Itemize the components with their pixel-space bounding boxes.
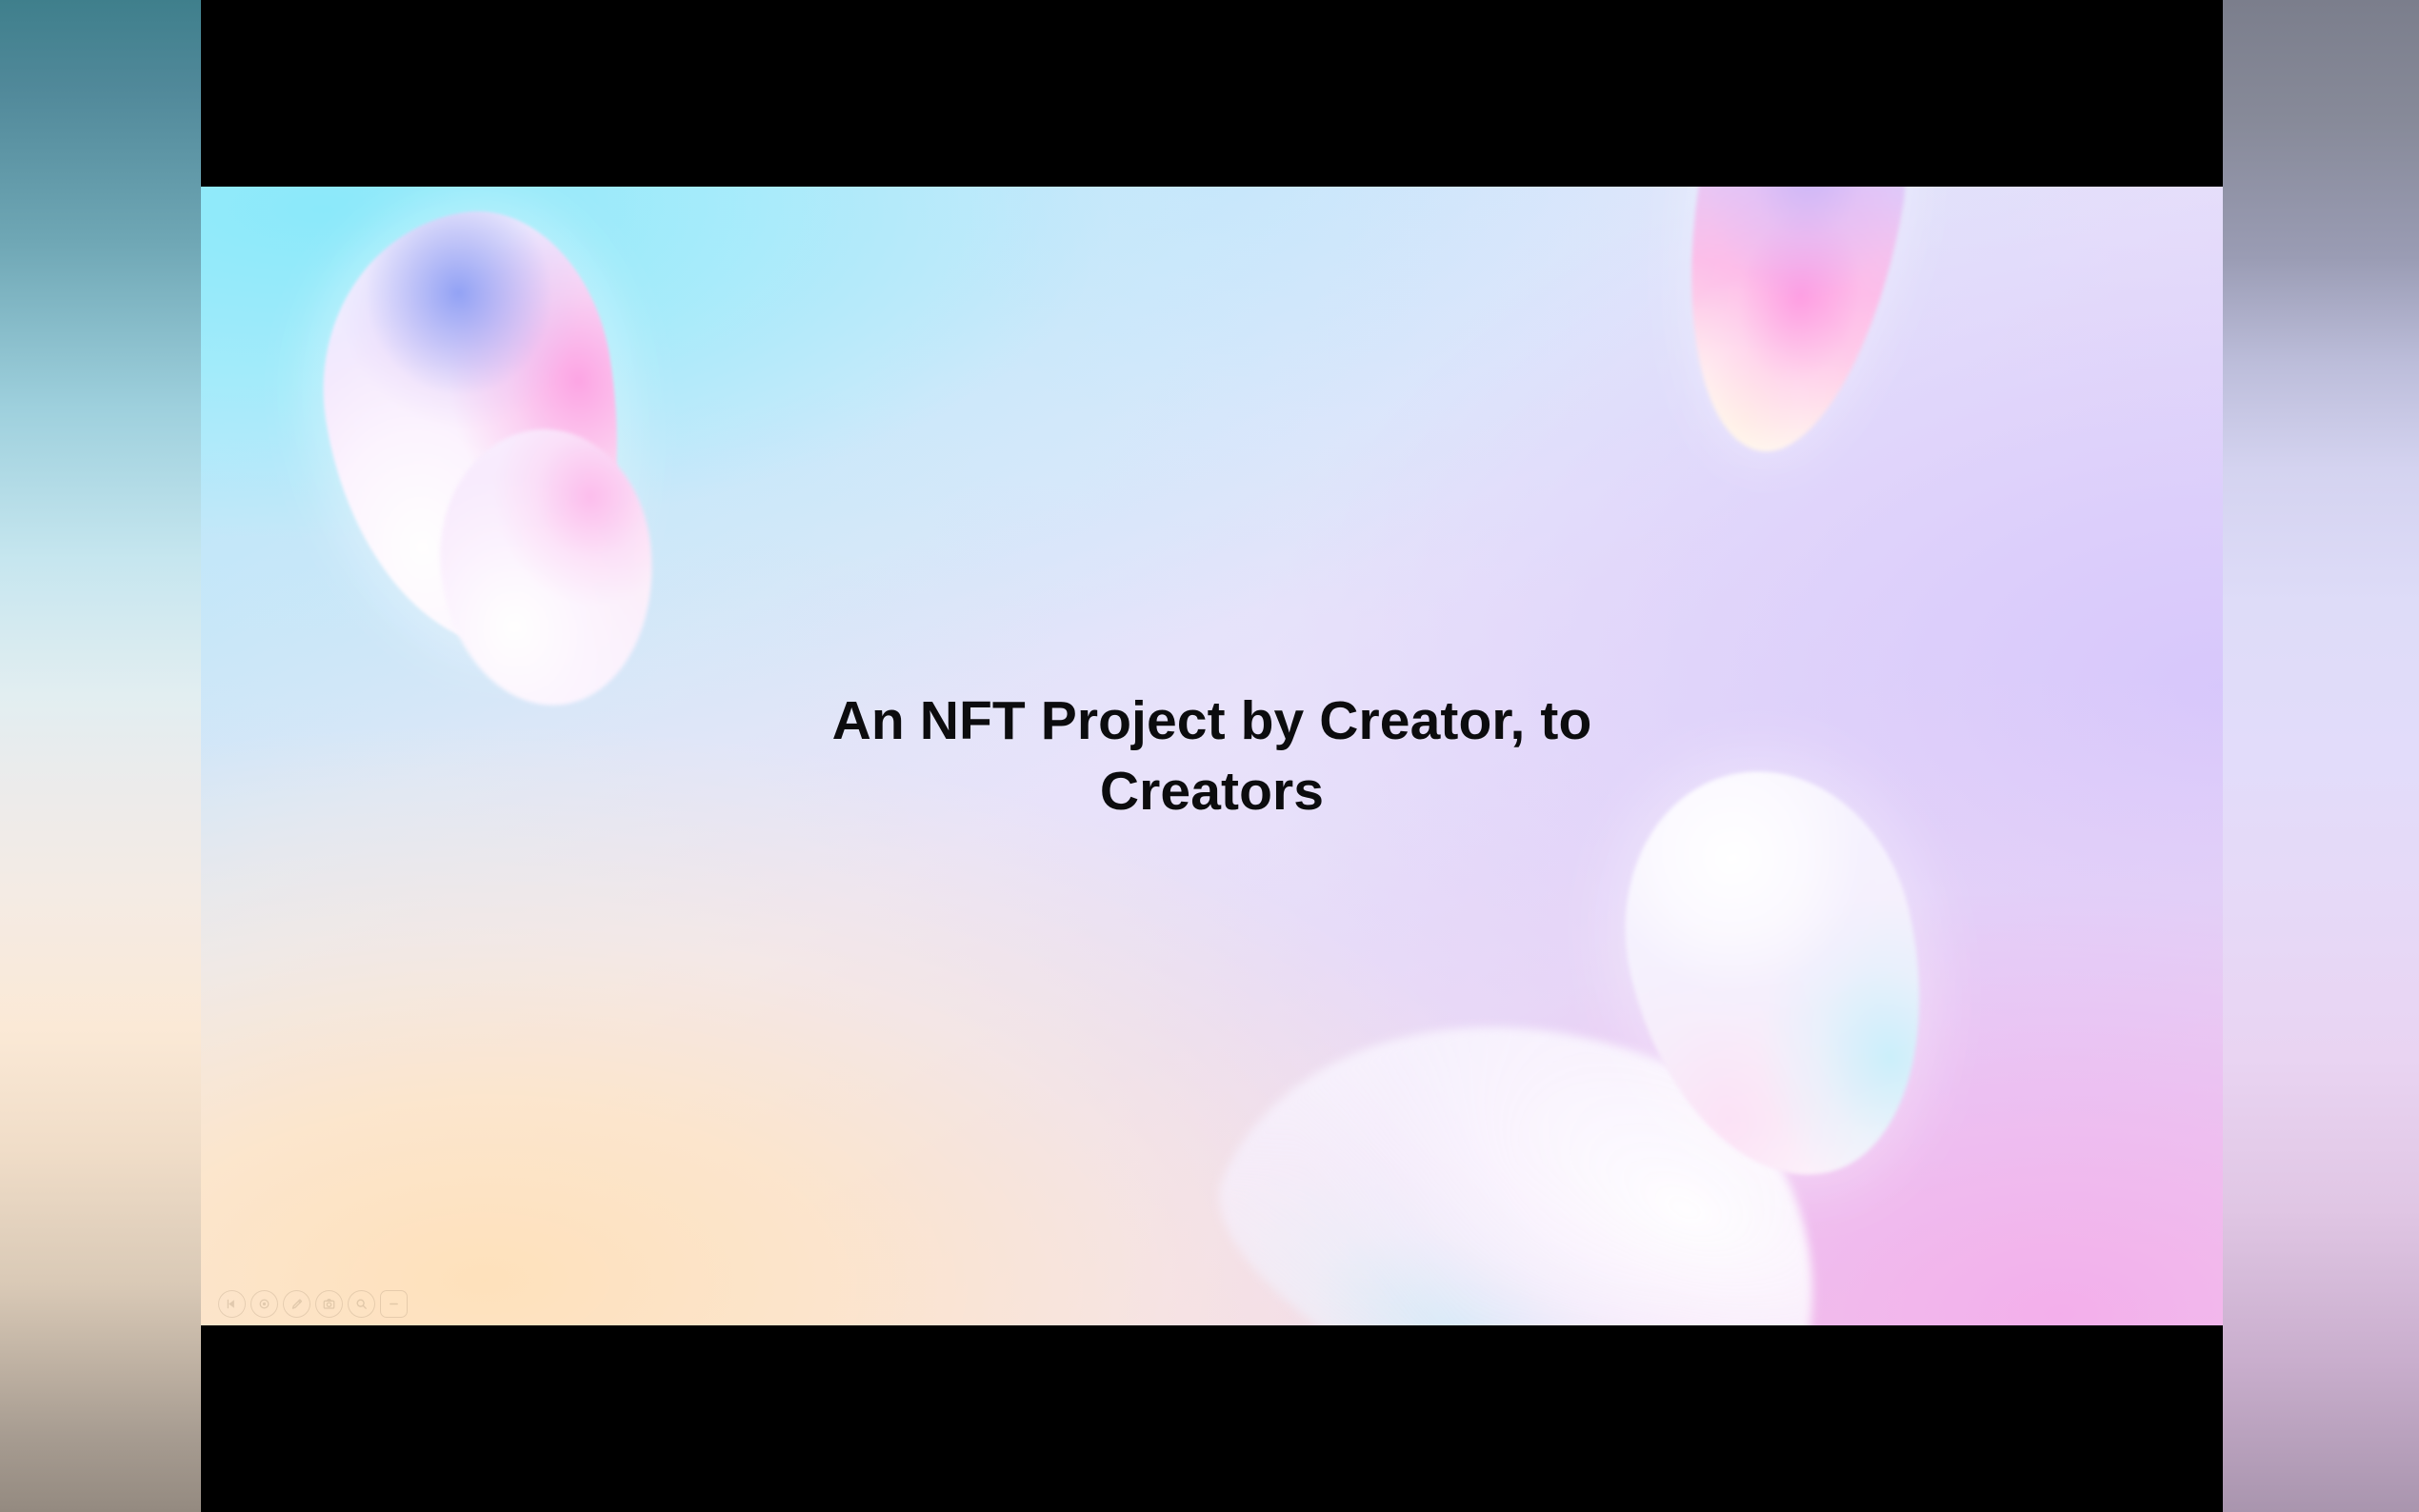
slide-title-text: An NFT Project by Creator, to Creators	[774, 686, 1650, 826]
search-icon[interactable]	[348, 1290, 375, 1318]
desktop-backdrop-right	[2223, 0, 2419, 1512]
minimize-icon[interactable]	[380, 1290, 408, 1318]
desktop-backdrop-left	[0, 0, 201, 1512]
camera-icon[interactable]	[315, 1290, 343, 1318]
player-toolbar[interactable]	[218, 1290, 408, 1318]
rewind-icon[interactable]	[218, 1290, 246, 1318]
screen-root: An NFT Project by Creator, to Creators	[0, 0, 2419, 1512]
pen-icon[interactable]	[283, 1290, 310, 1318]
video-frame[interactable]: An NFT Project by Creator, to Creators	[201, 187, 2223, 1325]
record-icon[interactable]	[250, 1290, 278, 1318]
slide-title: An NFT Project by Creator, to Creators	[201, 187, 2223, 1325]
video-player[interactable]: An NFT Project by Creator, to Creators	[201, 0, 2223, 1512]
letterbox-bottom-bar	[201, 1325, 2223, 1512]
letterbox-top-bar	[201, 0, 2223, 187]
